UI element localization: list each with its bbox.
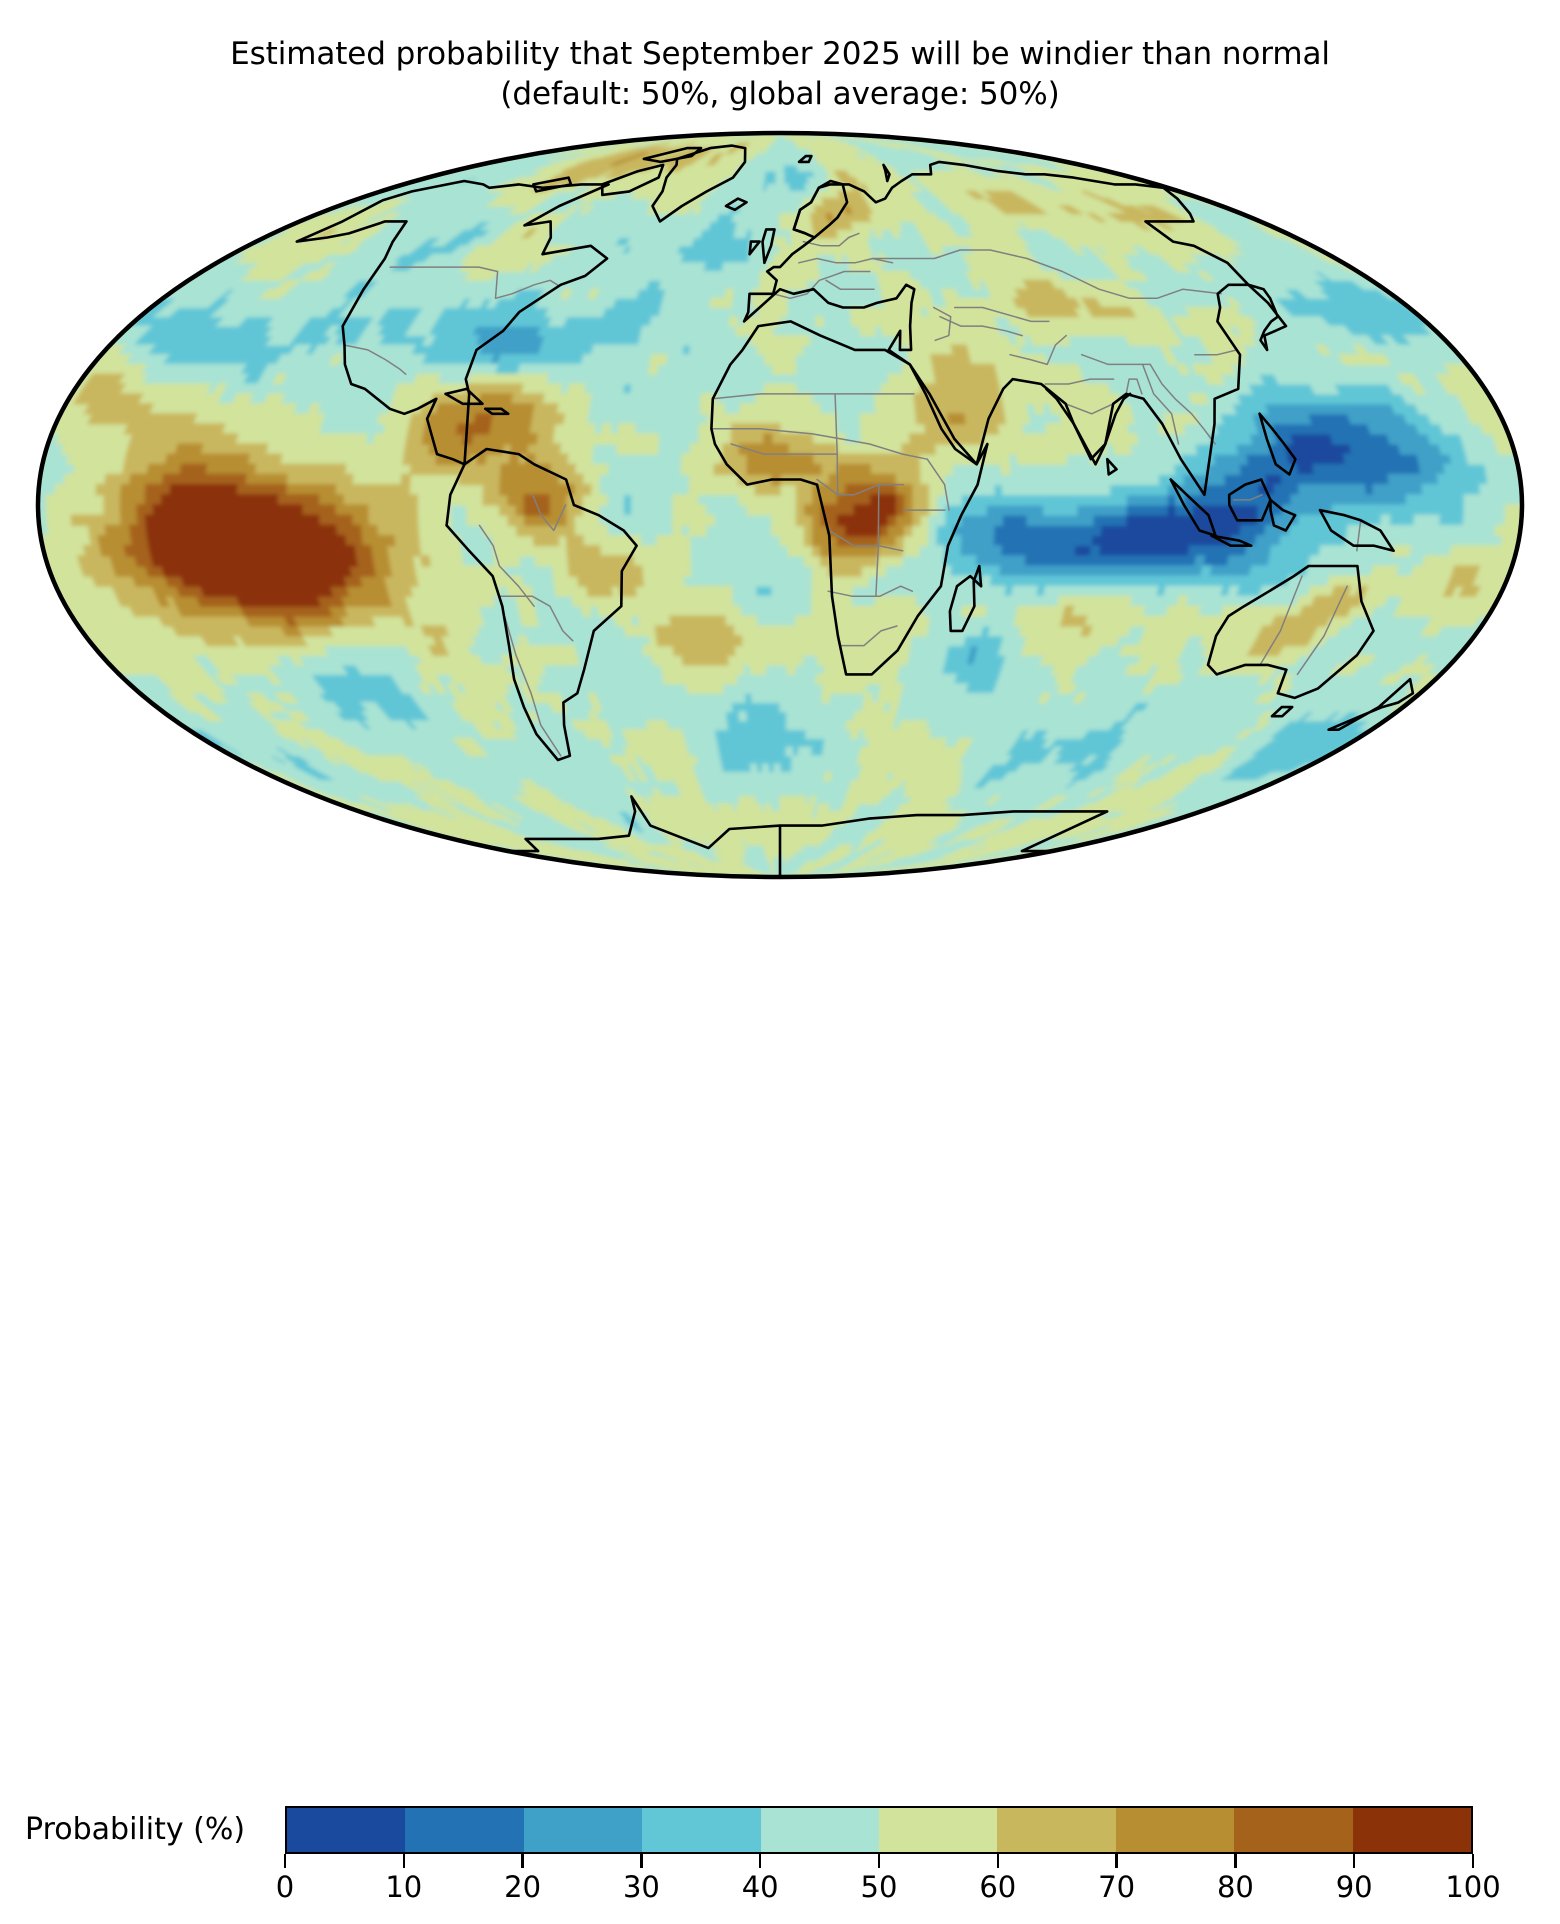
colorbar-tick-label-80: 80: [1217, 1870, 1254, 1904]
probability-field: [38, 133, 1522, 877]
colorbar-tick-80: [1234, 1854, 1237, 1868]
colorbar-band-5: [879, 1808, 997, 1852]
colorbar-tick-20: [521, 1854, 524, 1868]
colorbar-tick-label-50: 50: [861, 1870, 898, 1904]
title-line-1: Estimated probability that September 202…: [0, 34, 1560, 74]
colorbar-band-9: [1353, 1808, 1471, 1852]
colorbar-panel: Probability (%) 0102030405060708090100: [0, 896, 1560, 1031]
colorbar-tick-10: [403, 1854, 406, 1868]
colorbar-tick-50: [878, 1854, 881, 1868]
figure-root: Estimated probability that September 202…: [0, 0, 1560, 1031]
colorbar-tick-30: [640, 1854, 643, 1868]
colorbar-axis: 0102030405060708090100: [285, 1854, 1473, 1924]
colorbar-band-3: [642, 1808, 760, 1852]
colorbar-tick-label-30: 30: [623, 1870, 660, 1904]
colorbar-band-0: [287, 1808, 405, 1852]
colorbar-tick-label-70: 70: [1098, 1870, 1135, 1904]
colorbar-tick-label-10: 10: [385, 1870, 422, 1904]
colorbar-tick-0: [284, 1854, 287, 1868]
colorbar-tick-100: [1472, 1854, 1475, 1868]
colorbar-tick-label-90: 90: [1336, 1870, 1373, 1904]
colorbar-band-4: [761, 1808, 879, 1852]
colorbar-tick-label-60: 60: [979, 1870, 1016, 1904]
colorbar-tick-90: [1353, 1854, 1356, 1868]
colorbar-band-7: [1116, 1808, 1234, 1852]
title-line-2: (default: 50%, global average: 50%): [0, 74, 1560, 114]
colorbar-band-6: [997, 1808, 1115, 1852]
colorbar-tick-70: [1115, 1854, 1118, 1868]
colorbar-band-8: [1234, 1808, 1352, 1852]
colorbar-tick-label-20: 20: [504, 1870, 541, 1904]
colorbar-gradient: [285, 1806, 1473, 1854]
colorbar-tick-60: [997, 1854, 1000, 1868]
map-panel: [0, 120, 1560, 890]
colorbar-band-2: [524, 1808, 642, 1852]
figure-title: Estimated probability that September 202…: [0, 34, 1560, 115]
colorbar-label: Probability (%): [25, 1804, 275, 1854]
colorbar-tick-label-0: 0: [276, 1870, 294, 1904]
colorbar-tick-label-40: 40: [742, 1870, 779, 1904]
mollweide-map: [0, 120, 1560, 890]
colorbar-tick-label-100: 100: [1445, 1870, 1500, 1904]
colorbar-band-1: [405, 1808, 523, 1852]
colorbar-tick-40: [759, 1854, 762, 1868]
